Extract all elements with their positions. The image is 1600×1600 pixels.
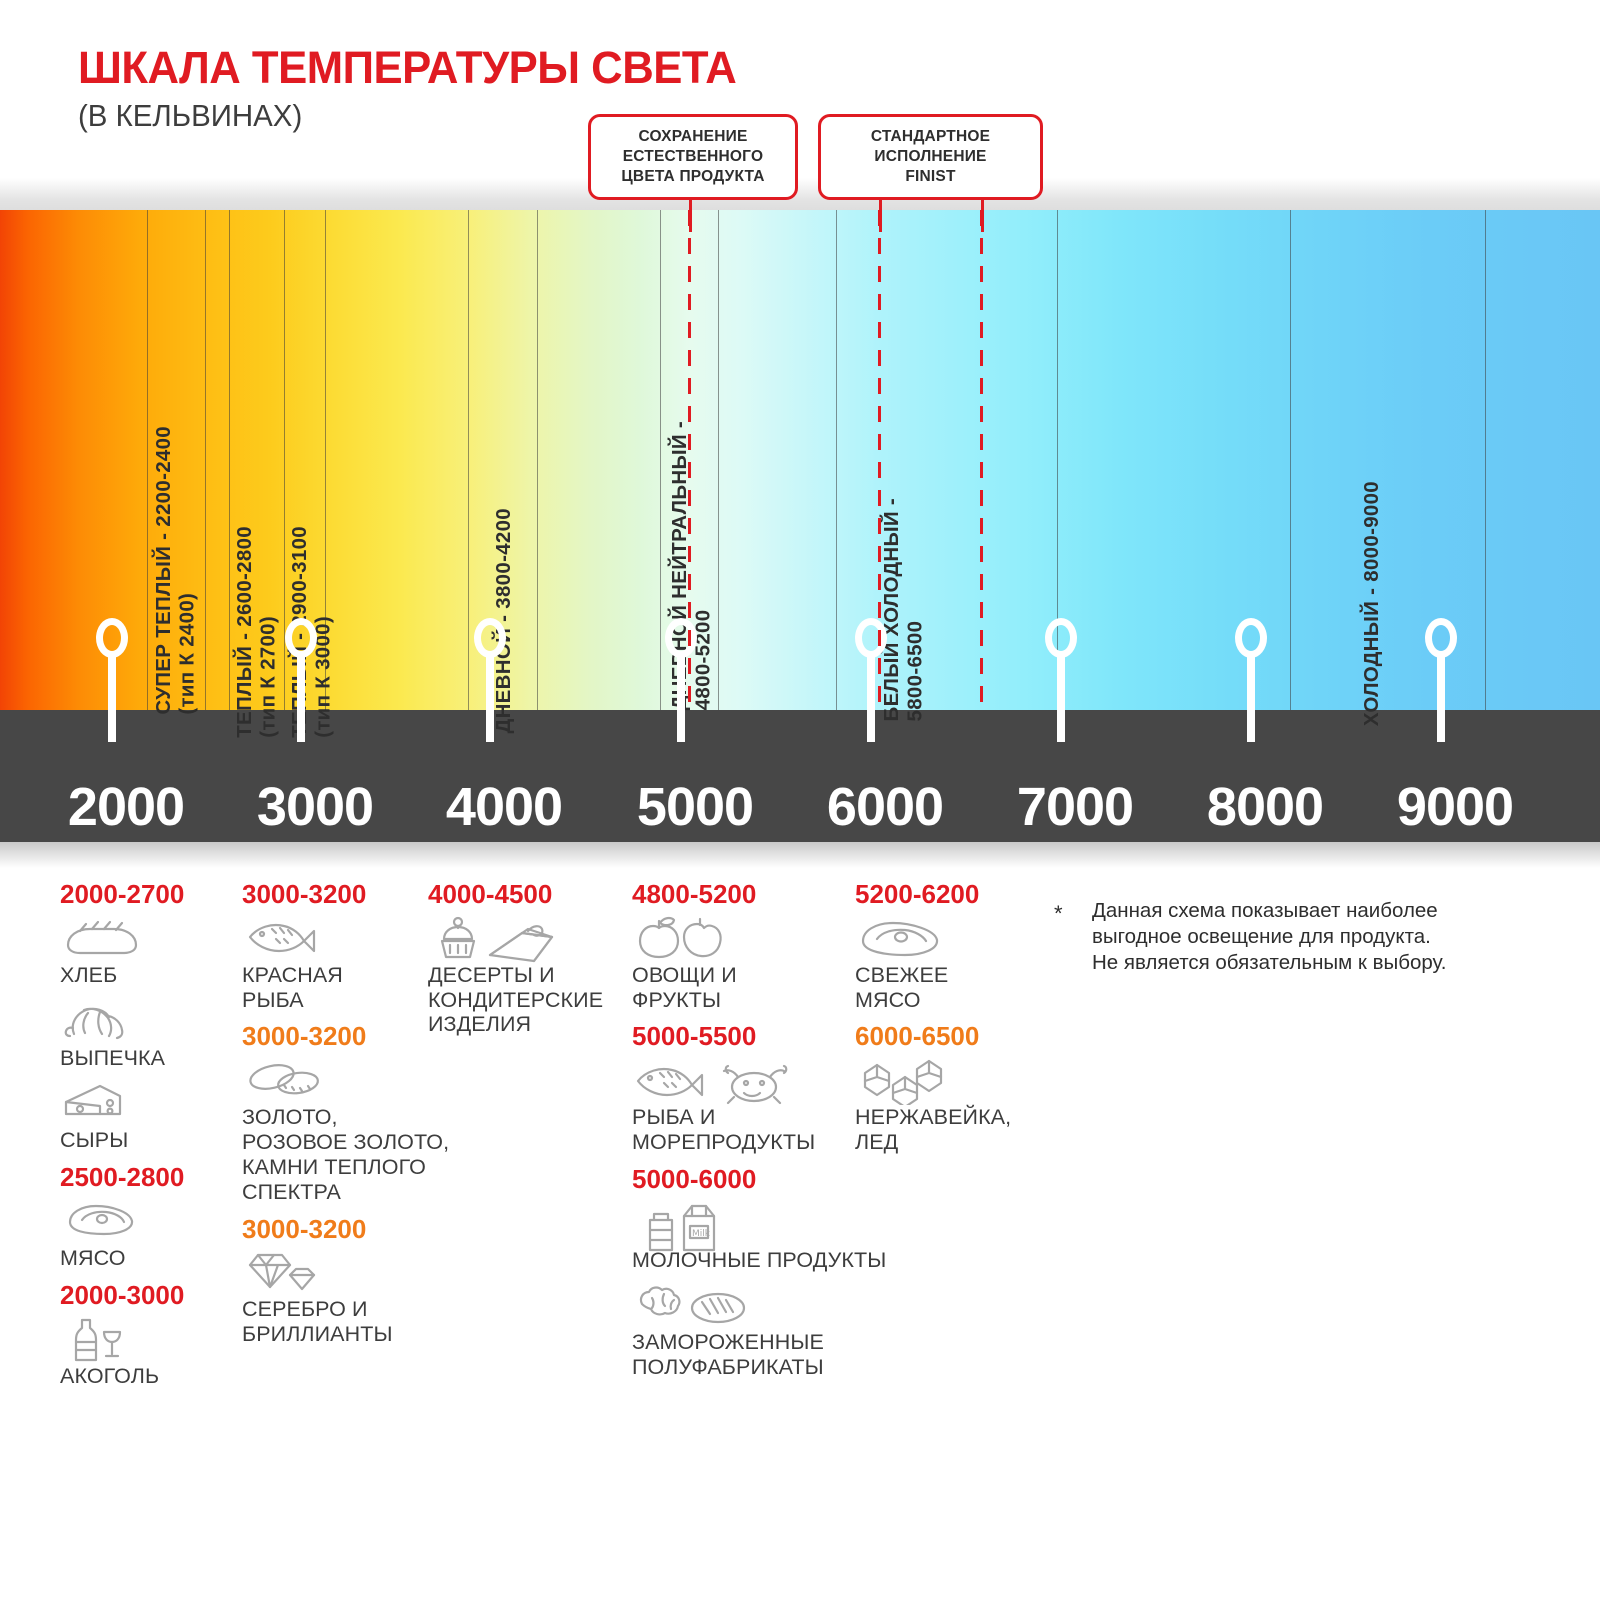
legend-item-label: НЕРЖАВЕЙКА,ЛЕД: [855, 1105, 1040, 1155]
callout-finist-line-2: ИСПОЛНЕНИЕ: [835, 147, 1026, 167]
pin-stem: [108, 652, 116, 742]
legend-item: MilkМОЛОЧНЫЕ ПРОДУКТЫ: [632, 1200, 847, 1273]
scale-tick-5000: 5000: [637, 776, 753, 838]
cheese-icon: [60, 1080, 240, 1126]
legend-item-label-line: МОРЕПРОДУКТЫ: [632, 1130, 847, 1155]
footnote-line-1: Данная схема показывает наиболее: [1092, 898, 1554, 924]
legend-item-label-line: НЕРЖАВЕЙКА,: [855, 1105, 1040, 1130]
pin-stem: [1247, 652, 1255, 742]
legend-item-label: СЫРЫ: [60, 1128, 240, 1153]
alcohol-icon: [60, 1316, 240, 1362]
pin-stem: [486, 652, 494, 742]
legend-range-label: 5000-5500: [632, 1022, 847, 1051]
legend-group: 2000-2700ХЛЕБВЫПЕЧКАСЫРЫ: [60, 880, 240, 1153]
legend-item-label-line: ИЗДЕЛИЯ: [428, 1012, 623, 1037]
legend-range-label: 3000-3200: [242, 1215, 432, 1244]
legend-column-1: 2000-2700ХЛЕБВЫПЕЧКАСЫРЫ2500-2800МЯСО200…: [60, 880, 240, 1398]
scale-tick-8000: 8000: [1207, 776, 1323, 838]
callout-finist-line-3: FINIST: [835, 167, 1026, 187]
legend-item-label-line: МЯСО: [855, 988, 1040, 1013]
band-label-line-1: ТЕПЛЫЙ - 2600-2800: [233, 526, 256, 738]
rings-icon: [242, 1057, 432, 1103]
band-divider: [229, 210, 230, 710]
legend-item-label-line: ФРУКТЫ: [632, 988, 847, 1013]
legend-range-label: 2000-2700: [60, 880, 240, 909]
legend-group: 2000-3000АКОГОЛЬ: [60, 1281, 240, 1389]
scale-tick-2000: 2000: [68, 776, 184, 838]
legend-range-label: 2000-3000: [60, 1281, 240, 1310]
band-divider: [718, 210, 719, 710]
callout-leader-finist-b: [981, 196, 984, 232]
legend-item-label-line: ЗАМОРОЖЕННЫЕ: [632, 1330, 847, 1355]
legend-group: 3000-3200КРАСНАЯРЫБА: [242, 880, 432, 1012]
legend-group: 5000-6000MilkМОЛОЧНЫЕ ПРОДУКТЫЗАМОРОЖЕНН…: [632, 1165, 847, 1380]
page-title: ШКАЛА ТЕМПЕРАТУРЫ СВЕТА: [78, 42, 736, 94]
legend-item-label: КРАСНАЯРЫБА: [242, 963, 432, 1013]
footnote-line-2: выгодное освещение для продукта.: [1092, 924, 1554, 950]
band-divider: [537, 210, 538, 710]
legend-item-label-line: МОЛОЧНЫЕ ПРОДУКТЫ: [632, 1248, 847, 1273]
band-label-line-1: БЕЛЫЙ ХОЛОДНЫЙ -: [880, 498, 903, 721]
legend-item-label-line: ЗОЛОТО,: [242, 1105, 432, 1130]
vegetables-icon: [632, 915, 847, 961]
band-divider: [1290, 210, 1291, 710]
callout-finist-standard: СТАНДАРТНОЕ ИСПОЛНЕНИЕ FINIST: [818, 114, 1043, 200]
legend-item-label-line: СПЕКТРА: [242, 1180, 432, 1205]
marker-dashed-finist-a: [878, 210, 881, 710]
pin-stem: [297, 652, 305, 742]
callout-natural-line-3: ЦВЕТА ПРОДУКТА: [605, 167, 781, 187]
callout-natural-line-1: СОХРАНЕНИЕ: [605, 127, 781, 147]
legend-item-label-line: КАМНИ ТЕПЛОГО: [242, 1155, 432, 1180]
legend-item-label-line: ПОЛУФАБРИКАТЫ: [632, 1355, 847, 1380]
legend-item-label: ДЕСЕРТЫ ИКОНДИТЕРСКИЕИЗДЕЛИЯ: [428, 963, 623, 1038]
legend-item-label: СЕРЕБРО ИБРИЛЛИАНТЫ: [242, 1297, 432, 1347]
legend-item-label: ЗАМОРОЖЕННЫЕПОЛУФАБРИКАТЫ: [632, 1330, 847, 1380]
fish-icon: [242, 915, 432, 961]
legend-group: 3000-3200ЗОЛОТО,РОЗОВОЕ ЗОЛОТО,КАМНИ ТЕП…: [242, 1022, 432, 1204]
legend-range-label: 2500-2800: [60, 1163, 240, 1192]
band-label-line-2: (тип К 2400): [176, 426, 200, 715]
legend-item: ХЛЕБ: [60, 915, 240, 988]
legend-item-label-line: РОЗОВОЕ ЗОЛОТО,: [242, 1130, 432, 1155]
svg-text:Milk: Milk: [692, 1229, 711, 1239]
legend-group: 3000-3200СЕРЕБРО ИБРИЛЛИАНТЫ: [242, 1215, 432, 1347]
callout-leader-natural: [689, 196, 692, 232]
pin-stem: [1057, 652, 1065, 742]
legend-column-3: 4000-4500ДЕСЕРТЫ ИКОНДИТЕРСКИЕИЗДЕЛИЯ: [428, 880, 623, 1047]
legend-item-label: ХЛЕБ: [60, 963, 240, 988]
legend-item-label-line: БРИЛЛИАНТЫ: [242, 1322, 432, 1347]
scale-tick-6000: 6000: [827, 776, 943, 838]
legend-item-label: МЯСО: [60, 1246, 240, 1271]
legend-column-2: 3000-3200КРАСНАЯРЫБА3000-3200ЗОЛОТО,РОЗО…: [242, 880, 432, 1357]
legend-item-label-line: ДЕСЕРТЫ И: [428, 963, 623, 988]
band-label-white-cold: БЕЛЫЙ ХОЛОДНЫЙ - 5800-6500: [880, 498, 927, 721]
pin-stem: [1437, 652, 1445, 742]
legend: 2000-2700ХЛЕБВЫПЕЧКАСЫРЫ2500-2800МЯСО200…: [0, 880, 1600, 1600]
legend-group: 5000-5500РЫБА ИМОРЕПРОДУКТЫ: [632, 1022, 847, 1154]
legend-item: НЕРЖАВЕЙКА,ЛЕД: [855, 1057, 1040, 1155]
frozen-icon: [632, 1282, 847, 1328]
legend-range-label: 3000-3200: [242, 880, 432, 909]
footnote: * Данная схема показывает наиболее выгод…: [1054, 898, 1554, 977]
legend-item-label: ВЫПЕЧКА: [60, 1046, 240, 1071]
legend-item-label-line: СЕРЕБРО И: [242, 1297, 432, 1322]
legend-item-label-line: ОВОЩИ И: [632, 963, 847, 988]
legend-item-label-line: ХЛЕБ: [60, 963, 240, 988]
legend-item: ЗОЛОТО,РОЗОВОЕ ЗОЛОТО,КАМНИ ТЕПЛОГОСПЕКТ…: [242, 1057, 432, 1205]
band-label-line-1: ХОЛОДНЫЙ - 8000-9000: [1360, 481, 1383, 726]
legend-item-label-line: ЛЕД: [855, 1130, 1040, 1155]
pin-stem: [867, 652, 875, 742]
band-divider: [468, 210, 469, 710]
legend-item-label-line: МЯСО: [60, 1246, 240, 1271]
legend-item: КРАСНАЯРЫБА: [242, 915, 432, 1013]
legend-group: 5200-6200СВЕЖЕЕМЯСО: [855, 880, 1040, 1012]
legend-item: СЕРЕБРО ИБРИЛЛИАНТЫ: [242, 1249, 432, 1347]
legend-item: СВЕЖЕЕМЯСО: [855, 915, 1040, 1013]
callout-natural-color: СОХРАНЕНИЕ ЕСТЕСТВЕННОГО ЦВЕТА ПРОДУКТА: [588, 114, 798, 200]
legend-item: МЯСО: [60, 1198, 240, 1271]
scale-bottom-shadow: [0, 842, 1600, 868]
steak-icon: [60, 1198, 240, 1244]
legend-item-label-line: СВЕЖЕЕ: [855, 963, 1040, 988]
legend-item-label: АКОГОЛЬ: [60, 1364, 240, 1389]
legend-item: СЫРЫ: [60, 1080, 240, 1153]
legend-range-label: 4800-5200: [632, 880, 847, 909]
legend-item-label-line: РЫБА: [242, 988, 432, 1013]
dessert-icon: [428, 915, 623, 961]
scale-tick-7000: 7000: [1017, 776, 1133, 838]
freshmeat-icon: [855, 915, 1040, 961]
legend-item-label-line: РЫБА И: [632, 1105, 847, 1130]
legend-column-4: 4800-5200ОВОЩИ ИФРУКТЫ5000-5500РЫБА ИМОР…: [632, 880, 847, 1390]
legend-item: АКОГОЛЬ: [60, 1316, 240, 1389]
band-divider: [205, 210, 206, 710]
scale-tick-4000: 4000: [446, 776, 562, 838]
legend-group: 6000-6500НЕРЖАВЕЙКА,ЛЕД: [855, 1022, 1040, 1154]
temperature-band: СУПЕР ТЕПЛЫЙ - 2200-2400 (тип К 2400) ТЕ…: [0, 178, 1600, 868]
legend-item-label-line: ВЫПЕЧКА: [60, 1046, 240, 1071]
legend-item-label: ОВОЩИ ИФРУКТЫ: [632, 963, 847, 1013]
legend-range-label: 5000-6000: [632, 1165, 847, 1194]
legend-item: ДЕСЕРТЫ ИКОНДИТЕРСКИЕИЗДЕЛИЯ: [428, 915, 623, 1038]
legend-item-label-line: КОНДИТЕРСКИЕ: [428, 988, 623, 1013]
callout-leader-finist-a: [879, 196, 882, 232]
scale-tick-3000: 3000: [257, 776, 373, 838]
diamond-icon: [242, 1249, 432, 1295]
legend-group: 4800-5200ОВОЩИ ИФРУКТЫ: [632, 880, 847, 1012]
marker-dashed-natural: [688, 210, 691, 710]
band-divider: [836, 210, 837, 710]
bread-icon: [60, 915, 240, 961]
legend-range-label: 3000-3200: [242, 1022, 432, 1051]
legend-range-label: 6000-6500: [855, 1022, 1040, 1051]
band-label-super-warm: СУПЕР ТЕПЛЫЙ - 2200-2400 (тип К 2400): [152, 426, 199, 715]
band-divider: [1485, 210, 1486, 710]
page-subtitle: (В КЕЛЬВИНАХ): [78, 98, 302, 134]
legend-item-label: МОЛОЧНЫЕ ПРОДУКТЫ: [632, 1248, 847, 1273]
band-label-daylight-neutral: ДНЕВНОЙ НЕЙТРАЛЬНЫЙ - 4800-5200: [668, 421, 715, 710]
legend-item-label-line: СЫРЫ: [60, 1128, 240, 1153]
legend-item: РЫБА ИМОРЕПРОДУКТЫ: [632, 1057, 847, 1155]
legend-item-label: СВЕЖЕЕМЯСО: [855, 963, 1040, 1013]
seafood-icon: [632, 1057, 847, 1103]
band-top-shadow: [0, 178, 1600, 210]
legend-item: ЗАМОРОЖЕННЫЕПОЛУФАБРИКАТЫ: [632, 1282, 847, 1380]
milk-icon: Milk: [632, 1200, 847, 1246]
marker-dashed-finist-b: [980, 210, 983, 710]
callout-finist-line-1: СТАНДАРТНОЕ: [835, 127, 1026, 147]
legend-item-label: ЗОЛОТО,РОЗОВОЕ ЗОЛОТО,КАМНИ ТЕПЛОГОСПЕКТ…: [242, 1105, 432, 1205]
legend-item-label-line: АКОГОЛЬ: [60, 1364, 240, 1389]
legend-range-label: 4000-4500: [428, 880, 623, 909]
band-label-warm-2700: ТЕПЛЫЙ - 2600-2800 (тип К 2700): [233, 526, 280, 738]
band-label-line-2: (тип К 2700): [257, 526, 281, 738]
legend-item: ВЫПЕЧКА: [60, 998, 240, 1071]
scale-tick-9000: 9000: [1397, 776, 1513, 838]
ice-icon: [855, 1057, 1040, 1103]
pin-stem: [677, 652, 685, 742]
band-divider: [147, 210, 148, 710]
legend-item-label-line: КРАСНАЯ: [242, 963, 432, 988]
band-divider: [660, 210, 661, 710]
footnote-line-3: Не является обязательным к выбору.: [1092, 950, 1554, 976]
legend-group: 4000-4500ДЕСЕРТЫ ИКОНДИТЕРСКИЕИЗДЕЛИЯ: [428, 880, 623, 1037]
band-label-line-1: СУПЕР ТЕПЛЫЙ - 2200-2400: [152, 426, 175, 715]
croissant-icon: [60, 998, 240, 1044]
legend-range-label: 5200-6200: [855, 880, 1040, 909]
band-label-cold: ХОЛОДНЫЙ - 8000-9000: [1360, 481, 1384, 726]
band-label-line-2: 4800-5200: [692, 421, 716, 710]
band-label-line-2: 5800-6500: [904, 498, 928, 721]
legend-item: ОВОЩИ ИФРУКТЫ: [632, 915, 847, 1013]
legend-column-5: 5200-6200СВЕЖЕЕМЯСО6000-6500НЕРЖАВЕЙКА,Л…: [855, 880, 1040, 1165]
legend-item-label: РЫБА ИМОРЕПРОДУКТЫ: [632, 1105, 847, 1155]
callout-natural-line-2: ЕСТЕСТВЕННОГО: [605, 147, 781, 167]
legend-group: 2500-2800МЯСО: [60, 1163, 240, 1271]
footnote-asterisk: *: [1054, 900, 1063, 928]
